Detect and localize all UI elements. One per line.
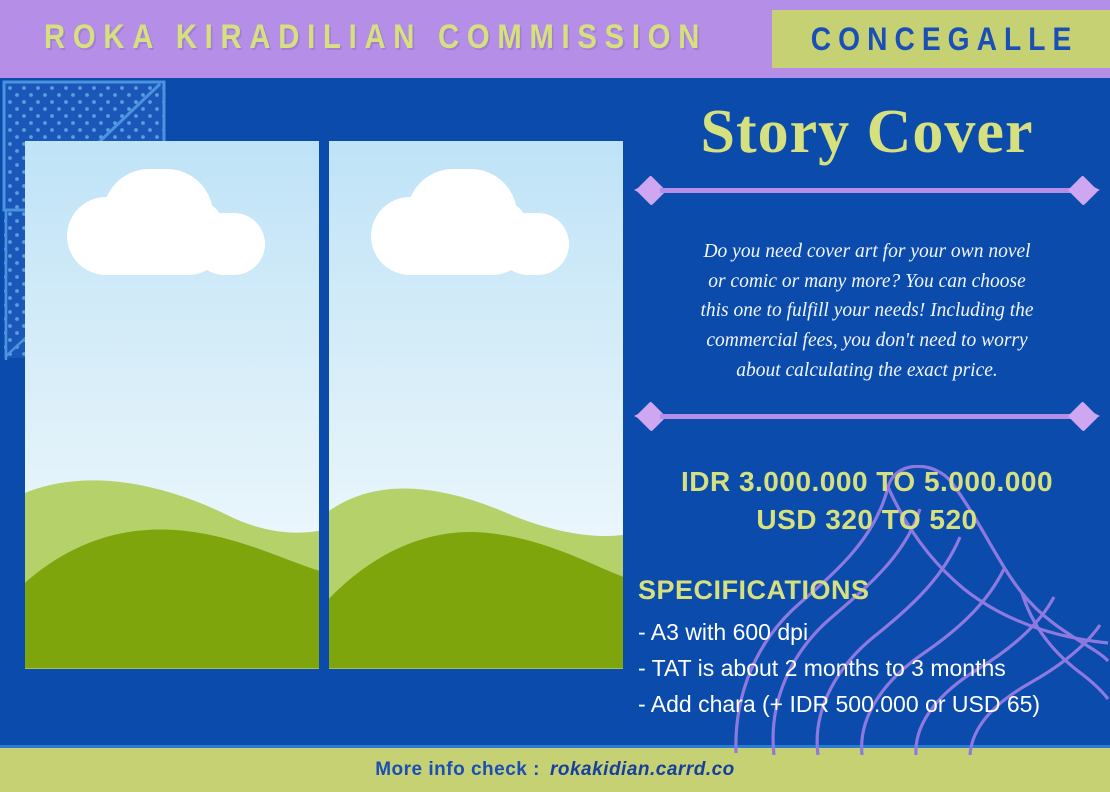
description-line: about calculating the exact price. bbox=[644, 356, 1090, 386]
footer-label: More info check : bbox=[375, 759, 540, 780]
price-line-usd: USD 320 TO 520 bbox=[634, 501, 1100, 539]
footer-link[interactable]: rokakidian.carrd.co bbox=[550, 759, 735, 780]
description-line: Do you need cover art for your own novel bbox=[644, 237, 1090, 267]
specifications-heading: SPECIFICATIONS bbox=[634, 575, 1100, 606]
price-line-idr: IDR 3.000.000 TO 5.000.000 bbox=[634, 463, 1100, 501]
page-title: Story Cover bbox=[634, 95, 1100, 163]
concegalle-label: CONCEGALLE bbox=[792, 10, 1089, 68]
divider-top bbox=[634, 177, 1100, 203]
price-block: IDR 3.000.000 TO 5.000.000 USD 320 TO 52… bbox=[634, 463, 1100, 539]
brand-title: ROKA KIRADILIAN COMMISSION bbox=[44, 18, 707, 57]
cloud-icon bbox=[193, 213, 265, 275]
footer-bar: More info check :rokakidian.carrd.co bbox=[0, 745, 1110, 792]
description-line: commercial fees, you don't need to worry bbox=[644, 326, 1090, 356]
hills-illustration bbox=[329, 431, 623, 669]
divider-arrow-right-icon bbox=[1086, 183, 1100, 197]
specifications-list: - A3 with 600 dpi - TAT is about 2 month… bbox=[634, 614, 1100, 723]
description-line: this one to fulfill your needs! Includin… bbox=[644, 296, 1090, 326]
concegalle-badge: CONCEGALLE bbox=[772, 10, 1110, 68]
divider-bottom bbox=[634, 403, 1100, 429]
divider-arrow-right-icon bbox=[1086, 409, 1100, 423]
specification-item: - Add chara (+ IDR 500.000 or USD 65) bbox=[638, 686, 1100, 722]
specification-item: - TAT is about 2 months to 3 months bbox=[638, 650, 1100, 686]
panel-divider bbox=[319, 141, 329, 669]
hills-illustration bbox=[25, 431, 319, 669]
divider-bar bbox=[660, 188, 1074, 193]
description-block: Do you need cover art for your own novel… bbox=[634, 237, 1100, 385]
description-line: or comic or many more? You can choose bbox=[644, 267, 1090, 297]
divider-bar bbox=[660, 414, 1074, 419]
poster-root: ROKA KIRADILIAN COMMISSION CONCEGALLE bbox=[0, 0, 1110, 792]
header-bar: ROKA KIRADILIAN COMMISSION CONCEGALLE bbox=[0, 0, 1110, 78]
cover-preview-right[interactable] bbox=[329, 141, 623, 669]
illustration-panels bbox=[25, 141, 623, 669]
cover-preview-left[interactable] bbox=[25, 141, 319, 669]
details-column: Story Cover Do you need cover art for yo… bbox=[634, 95, 1100, 723]
specification-item: - A3 with 600 dpi bbox=[638, 614, 1100, 650]
footer-content: More info check :rokakidian.carrd.co bbox=[0, 748, 1110, 792]
cloud-icon bbox=[497, 213, 569, 275]
